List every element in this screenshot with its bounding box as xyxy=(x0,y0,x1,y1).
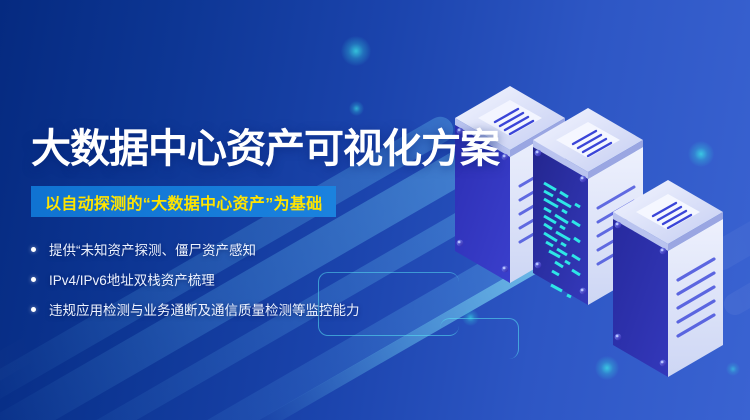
promo-banner: 大数据中心资产可视化方案 以自动探测的“大数据中心资产”为基础 提供“未知资产探… xyxy=(0,0,750,420)
page-title: 大数据中心资产可视化方案 xyxy=(31,126,499,172)
code-lines xyxy=(544,183,580,297)
server-rack-2 xyxy=(533,108,643,305)
glow-dot xyxy=(462,309,479,326)
subtitle-highlight-box: 以自动探测的“大数据中心资产”为基础 xyxy=(31,186,336,217)
vent-lines xyxy=(495,109,533,134)
glow-dot xyxy=(726,362,740,376)
list-item: 违规应用检测与业务通断及通信质量检测等监控能力 xyxy=(31,294,451,324)
circuit-trace xyxy=(440,318,519,359)
subtitle-text: 以自动探测的“大数据中心资产”为基础 xyxy=(45,190,322,214)
list-item-label: 提供“未知资产探测、僵尸资产感知 xyxy=(49,239,256,259)
glow-dot xyxy=(349,101,364,116)
bullet-dot-icon xyxy=(31,247,36,252)
light-streak xyxy=(700,120,750,276)
list-item-label: IPv4/IPv6地址双栈资产梳理 xyxy=(49,269,215,289)
list-item: IPv4/IPv6地址双栈资产梳理 xyxy=(31,264,451,294)
screw xyxy=(615,222,667,367)
vent-slats xyxy=(520,165,556,242)
light-streak xyxy=(720,190,750,319)
glow-dot xyxy=(595,356,619,380)
glow-dot xyxy=(341,36,371,66)
bullet-dot-icon xyxy=(31,307,36,312)
feature-bullet-list: 提供“未知资产探测、僵尸资产感知 IPv4/IPv6地址双栈资产梳理 违规应用检… xyxy=(31,234,451,324)
vent-slats xyxy=(598,187,634,264)
vent-lines xyxy=(573,131,611,156)
server-rack-3 xyxy=(613,180,723,377)
screw xyxy=(535,150,587,295)
list-item: 提供“未知资产探测、僵尸资产感知 xyxy=(31,234,451,264)
vent-slats xyxy=(678,259,714,336)
list-item-label: 违规应用检测与业务通断及通信质量检测等监控能力 xyxy=(49,299,360,319)
glow-dot xyxy=(688,141,714,167)
vent-lines xyxy=(653,203,691,228)
bullet-dot-icon xyxy=(31,277,36,282)
server-rack-1 xyxy=(455,86,565,283)
